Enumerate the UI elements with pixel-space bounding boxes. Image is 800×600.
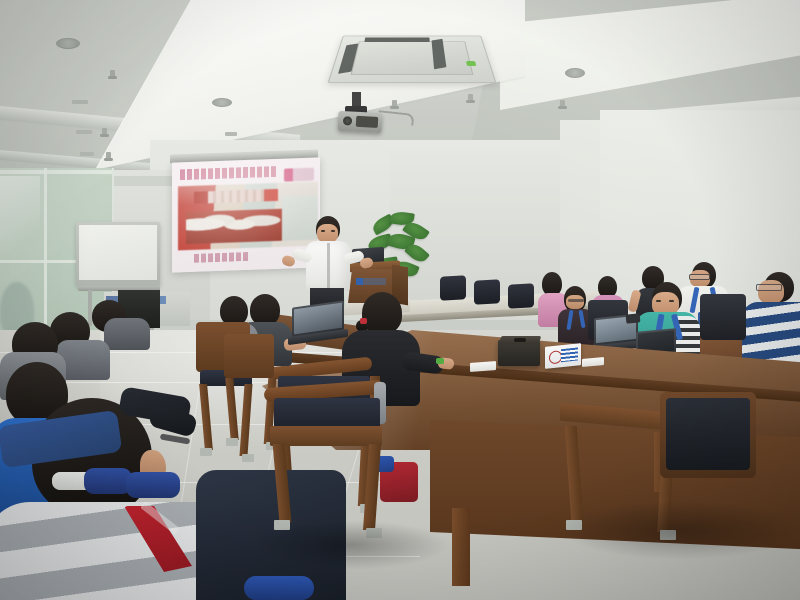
chair-foot xyxy=(242,454,254,462)
projector-lens-icon xyxy=(343,116,352,125)
chair-seat-frame xyxy=(270,426,382,446)
table-leg xyxy=(452,508,470,586)
lectern-logo xyxy=(356,278,386,285)
chair-cushion xyxy=(666,398,750,470)
eye xyxy=(656,300,661,302)
sandal xyxy=(84,468,132,494)
sandal xyxy=(126,472,180,498)
attendee-torso xyxy=(104,318,150,350)
ceiling-projector xyxy=(338,111,383,133)
head xyxy=(362,292,402,334)
shirt-placket xyxy=(327,243,330,289)
chair-back-far xyxy=(474,279,500,304)
pen xyxy=(436,358,444,364)
whiteboard-surface xyxy=(79,225,157,280)
ceiling-slot xyxy=(76,130,92,134)
ceiling-slot xyxy=(80,152,94,156)
chair-back xyxy=(224,334,274,378)
mobile-phone xyxy=(626,313,641,323)
glass-mullion xyxy=(44,168,47,338)
face xyxy=(566,295,584,309)
ceiling-ac-unit xyxy=(328,36,497,83)
sprinkler-icon xyxy=(392,100,397,108)
ac-indicator-light xyxy=(466,61,476,66)
sprinkler-icon xyxy=(102,128,107,136)
chair-foot xyxy=(200,448,212,456)
ceiling-slot xyxy=(225,132,237,136)
whiteboard xyxy=(76,222,160,286)
glasses-icon xyxy=(568,299,584,302)
paper-note xyxy=(470,361,496,372)
chair-back-far xyxy=(440,275,466,300)
eye xyxy=(321,230,325,232)
hair-clip xyxy=(360,318,367,324)
sprinkler-icon xyxy=(468,94,473,102)
downlight-icon xyxy=(56,38,80,49)
sprinkler-icon xyxy=(106,152,111,160)
floor-shadow xyxy=(560,500,800,560)
eye xyxy=(331,230,335,232)
floor-shadow xyxy=(250,520,450,570)
shoe xyxy=(244,576,314,600)
chair-foot xyxy=(226,438,238,446)
glass-reflection xyxy=(0,176,40,272)
eye xyxy=(669,300,674,302)
ceiling-slot xyxy=(72,100,88,104)
chair-back xyxy=(700,294,746,340)
ac-grille xyxy=(351,41,474,75)
tissue-box-opening xyxy=(514,338,526,342)
glasses-icon xyxy=(689,274,710,280)
ac-vent-top xyxy=(364,37,430,42)
projector-body-panel xyxy=(356,116,379,128)
downlight-icon xyxy=(212,98,232,107)
sprinkler-icon xyxy=(110,70,115,78)
glasses-icon xyxy=(756,284,782,291)
downlight-icon xyxy=(565,68,585,78)
glass-mullion xyxy=(0,170,112,174)
meeting-room-photo: 美年大健康现场急救知识讲座 心肺复苏操作 xyxy=(0,0,800,600)
sprinkler-icon xyxy=(560,100,565,108)
chair-back-far xyxy=(508,283,534,308)
table-placard xyxy=(545,343,581,369)
placard-text-lines xyxy=(561,347,578,362)
